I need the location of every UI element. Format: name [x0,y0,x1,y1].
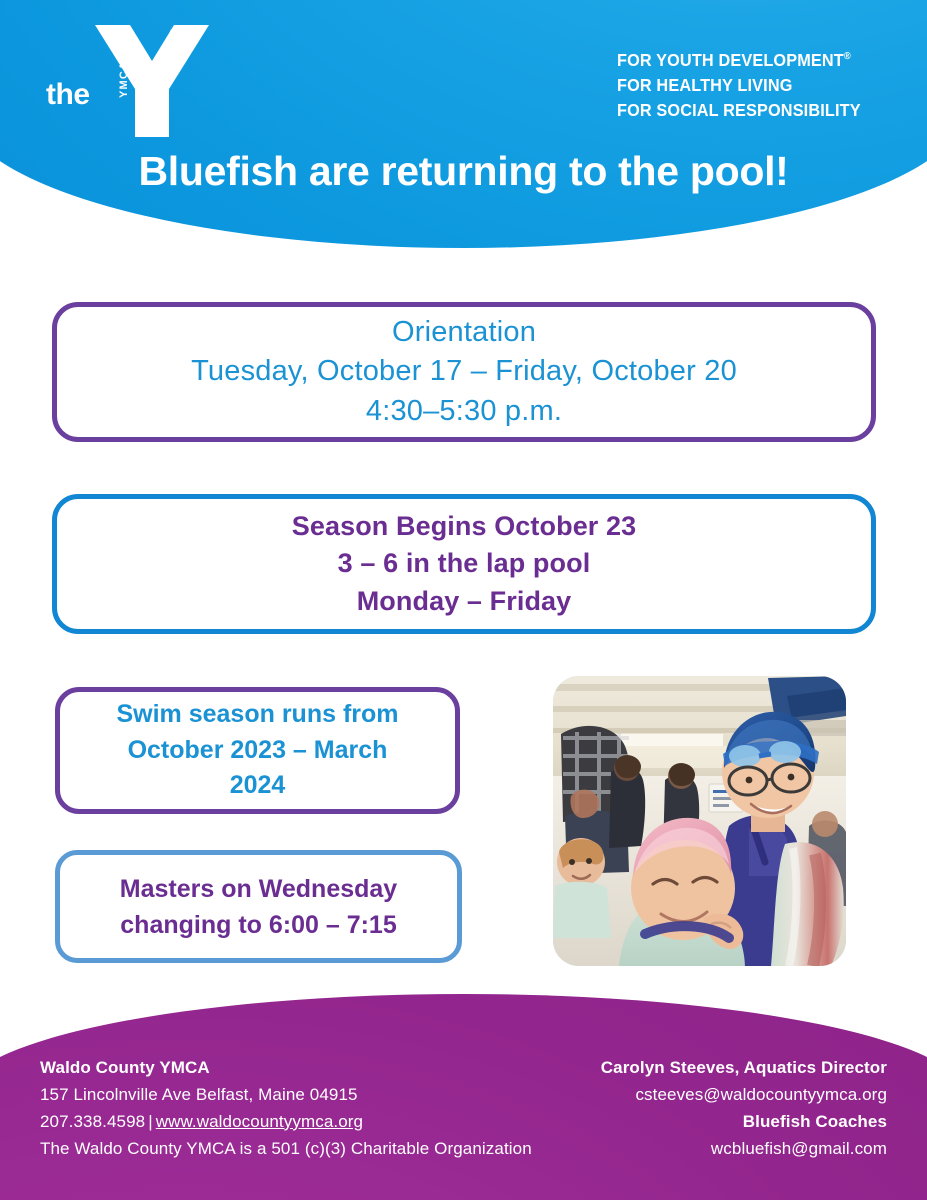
season-line-2: 3 – 6 in the lap pool [57,545,871,582]
masters-info-box: Masters on Wednesday changing to 6:00 – … [55,850,462,963]
swimmers-photo [553,676,846,966]
swim-season-line-3: 2024 [60,768,455,804]
swim-season-line-2: October 2023 – March [60,733,455,769]
season-line-3: Monday – Friday [57,583,871,620]
swim-season-line-1: Swim season runs from [60,697,455,733]
orientation-info-box: Orientation Tuesday, October 17 – Friday… [52,302,876,442]
footer-organization-block: Waldo County YMCA 157 Lincolnville Ave B… [40,1055,532,1162]
footer-phone-website-line: 207.338.4598|www.waldocountyymca.org [40,1109,532,1136]
footer: Waldo County YMCA 157 Lincolnville Ave B… [0,1055,927,1200]
content-boxes: Orientation Tuesday, October 17 – Friday… [0,0,927,1200]
footer-contact-block: Carolyn Steeves, Aquatics Director cstee… [601,1055,887,1162]
footer-phone: 207.338.4598 [40,1112,145,1131]
season-line-1: Season Begins October 23 [57,508,871,545]
footer-contact-email[interactable]: csteeves@waldocountyymca.org [601,1082,887,1109]
flyer-page: the ® YMCA FOR YOUTH DEVELOPMENT® FOR HE… [0,0,927,1200]
orientation-line-2: Tuesday, October 17 – Friday, October 20 [57,352,871,391]
footer-contact-name: Carolyn Steeves, Aquatics Director [601,1055,887,1082]
footer-org-name: Waldo County YMCA [40,1055,532,1082]
masters-line-2: changing to 6:00 – 7:15 [60,907,457,943]
footer-coaches-email[interactable]: wcbluefish@gmail.com [601,1136,887,1163]
footer-separator: | [145,1112,156,1131]
orientation-line-3: 4:30–5:30 p.m. [57,392,871,431]
footer-address: 157 Lincolnville Ave Belfast, Maine 0491… [40,1082,532,1109]
season-info-box: Season Begins October 23 3 – 6 in the la… [52,494,876,634]
masters-line-1: Masters on Wednesday [60,871,457,907]
orientation-line-1: Orientation [57,313,871,352]
footer-legal-notice: The Waldo County YMCA is a 501 (c)(3) Ch… [40,1136,532,1163]
footer-coaches-label: Bluefish Coaches [601,1109,887,1136]
swim-season-info-box: Swim season runs from October 2023 – Mar… [55,687,460,814]
footer-website-link[interactable]: www.waldocountyymca.org [156,1112,363,1131]
